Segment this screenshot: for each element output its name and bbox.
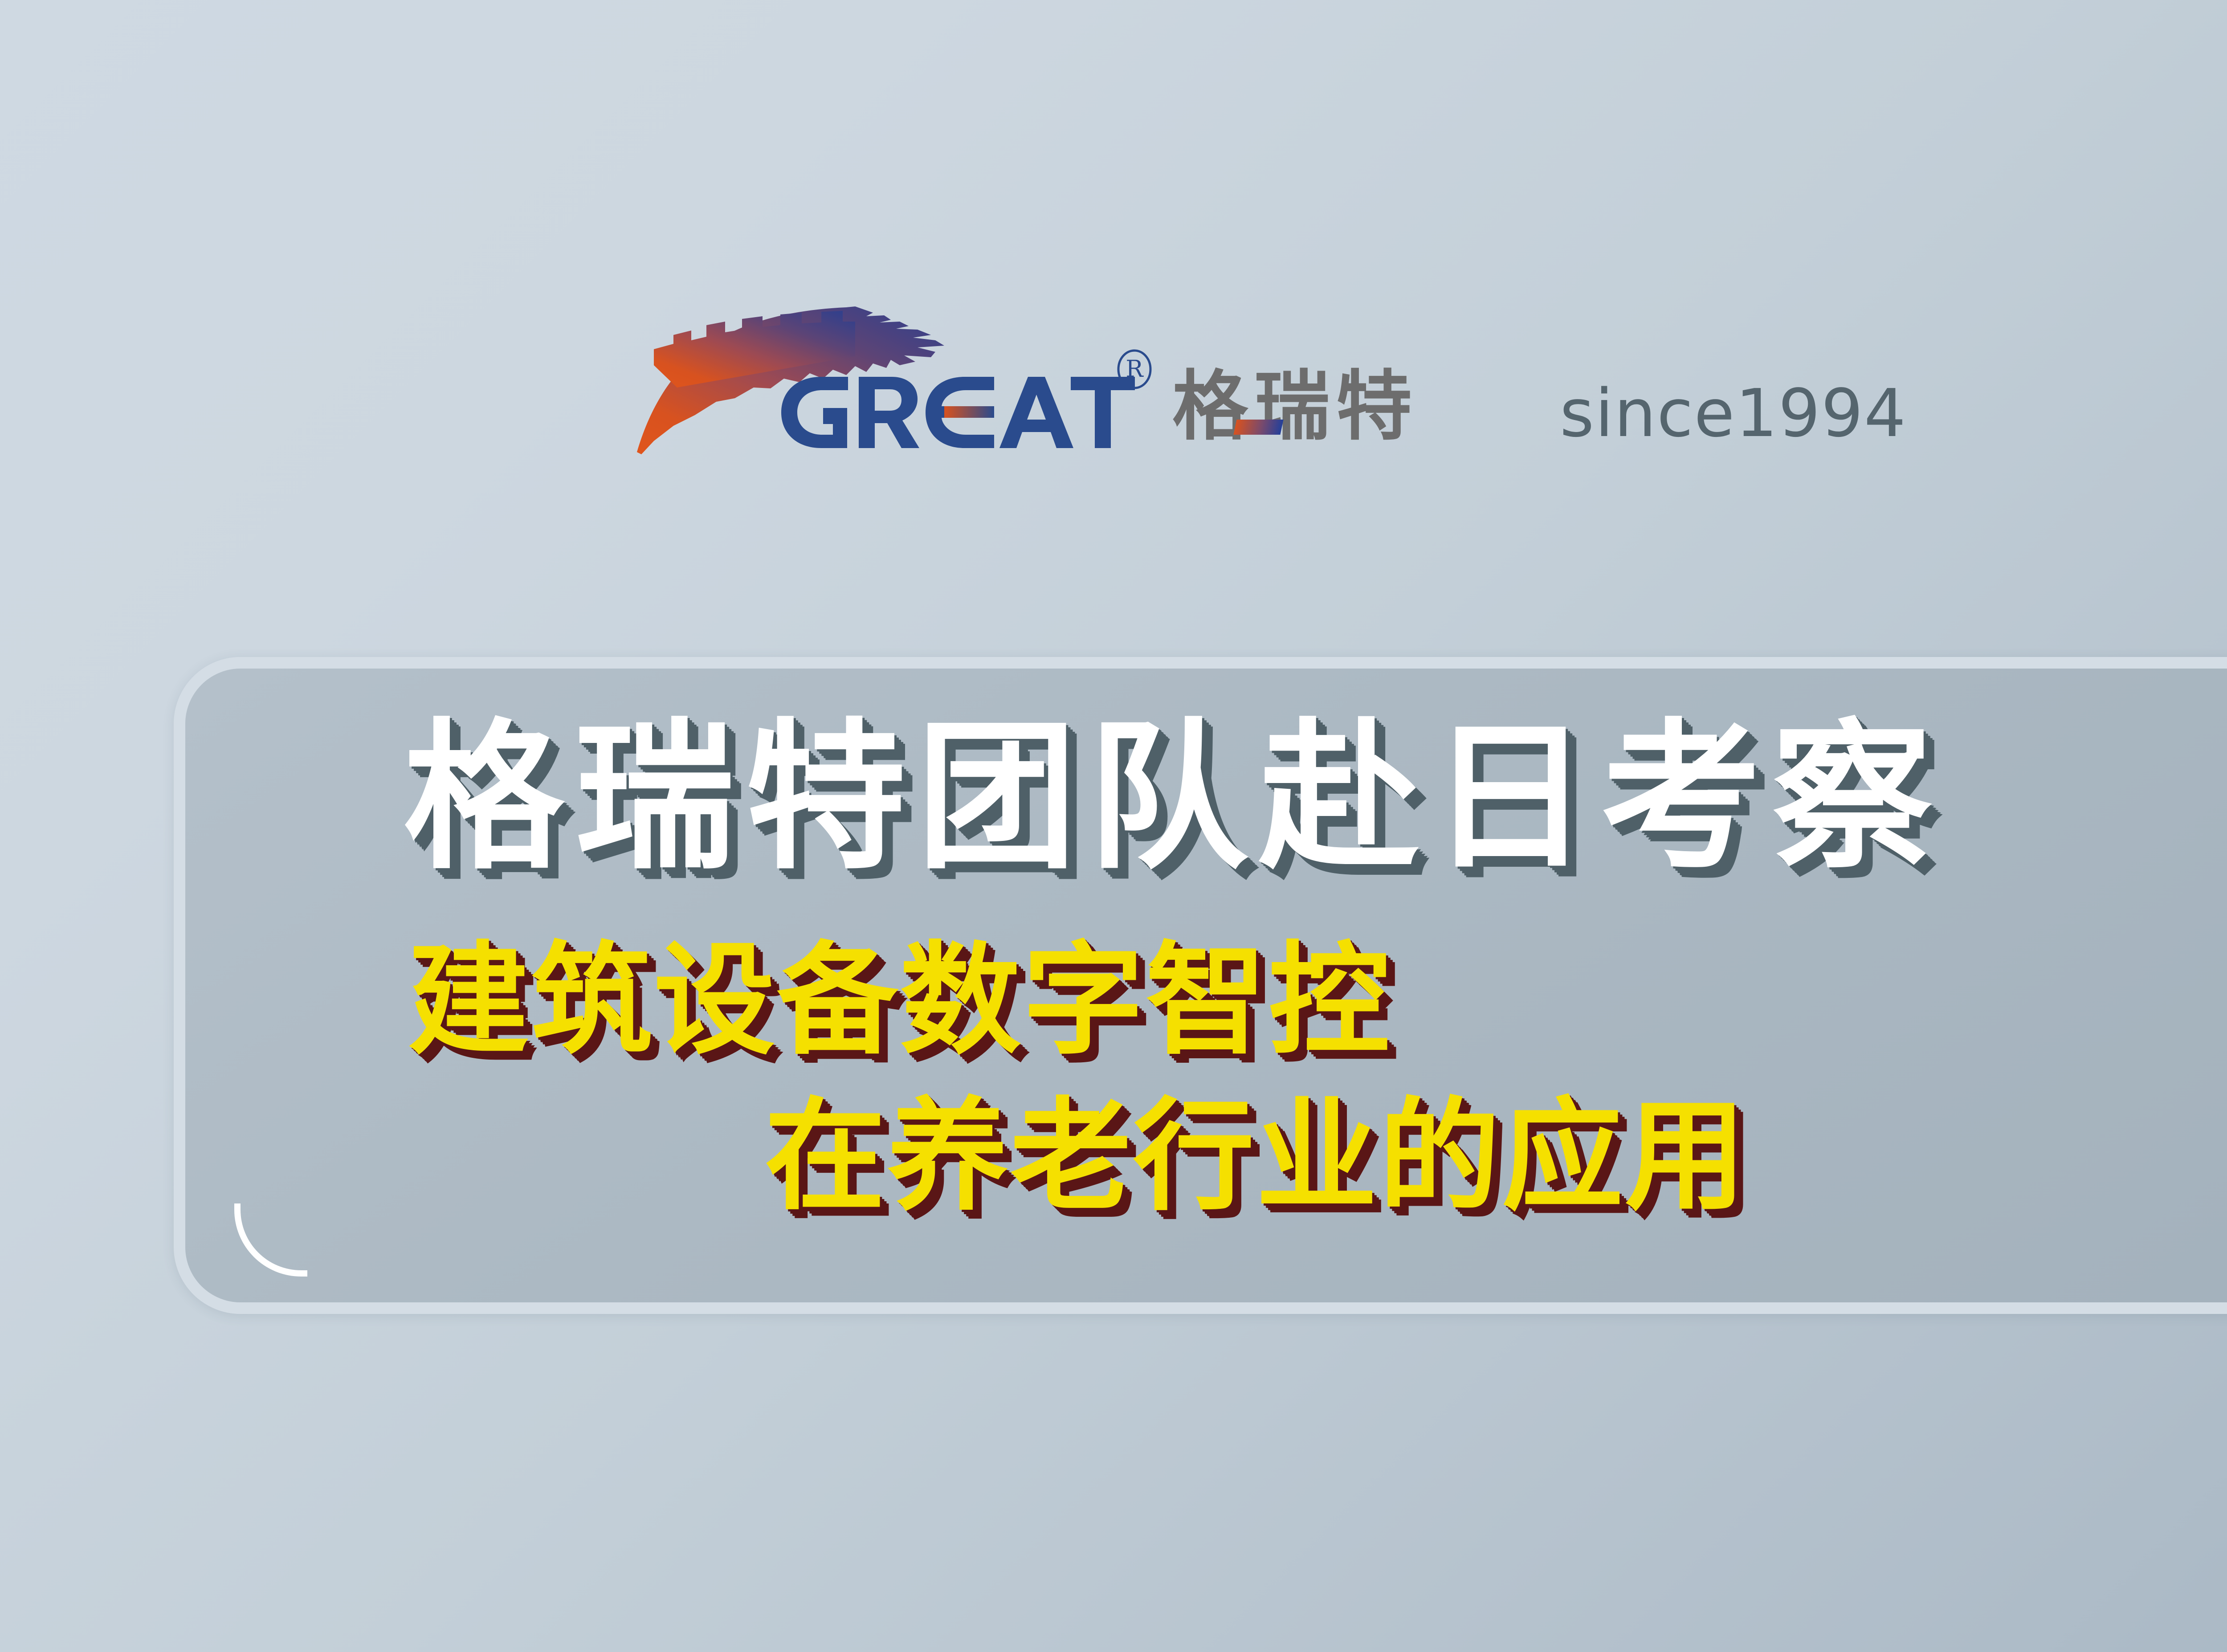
title-panel: 格瑞特团队赴日考察 建筑设备数字智控 在养老行业的应用: [174, 657, 2227, 1314]
corner-arc-bottom-left-icon: [234, 1203, 307, 1277]
company-logo-lockup: R 格瑞特 since1994: [624, 285, 2004, 490]
logo-wordmark-block: R 格瑞特 since1994: [780, 377, 1983, 466]
registered-trademark-icon: R: [1114, 349, 1154, 389]
since-label: since1994: [1560, 380, 1907, 446]
svg-text:R: R: [1126, 356, 1144, 383]
great-wordmark-icon: [780, 377, 1137, 448]
chinese-brand-name: 格瑞特: [1172, 369, 1418, 445]
subtitle-line-2: 在养老行业的应用: [764, 1096, 1748, 1217]
presentation-slide: R 格瑞特 since1994 格瑞特团队赴日考察 建筑设备数字智控 在养老行业…: [0, 0, 2227, 1652]
brand-accent-bar: [1233, 420, 1283, 435]
page-title: 格瑞特团队赴日考察: [404, 718, 1943, 878]
subtitle-line-1: 建筑设备数字智控: [408, 940, 1391, 1061]
